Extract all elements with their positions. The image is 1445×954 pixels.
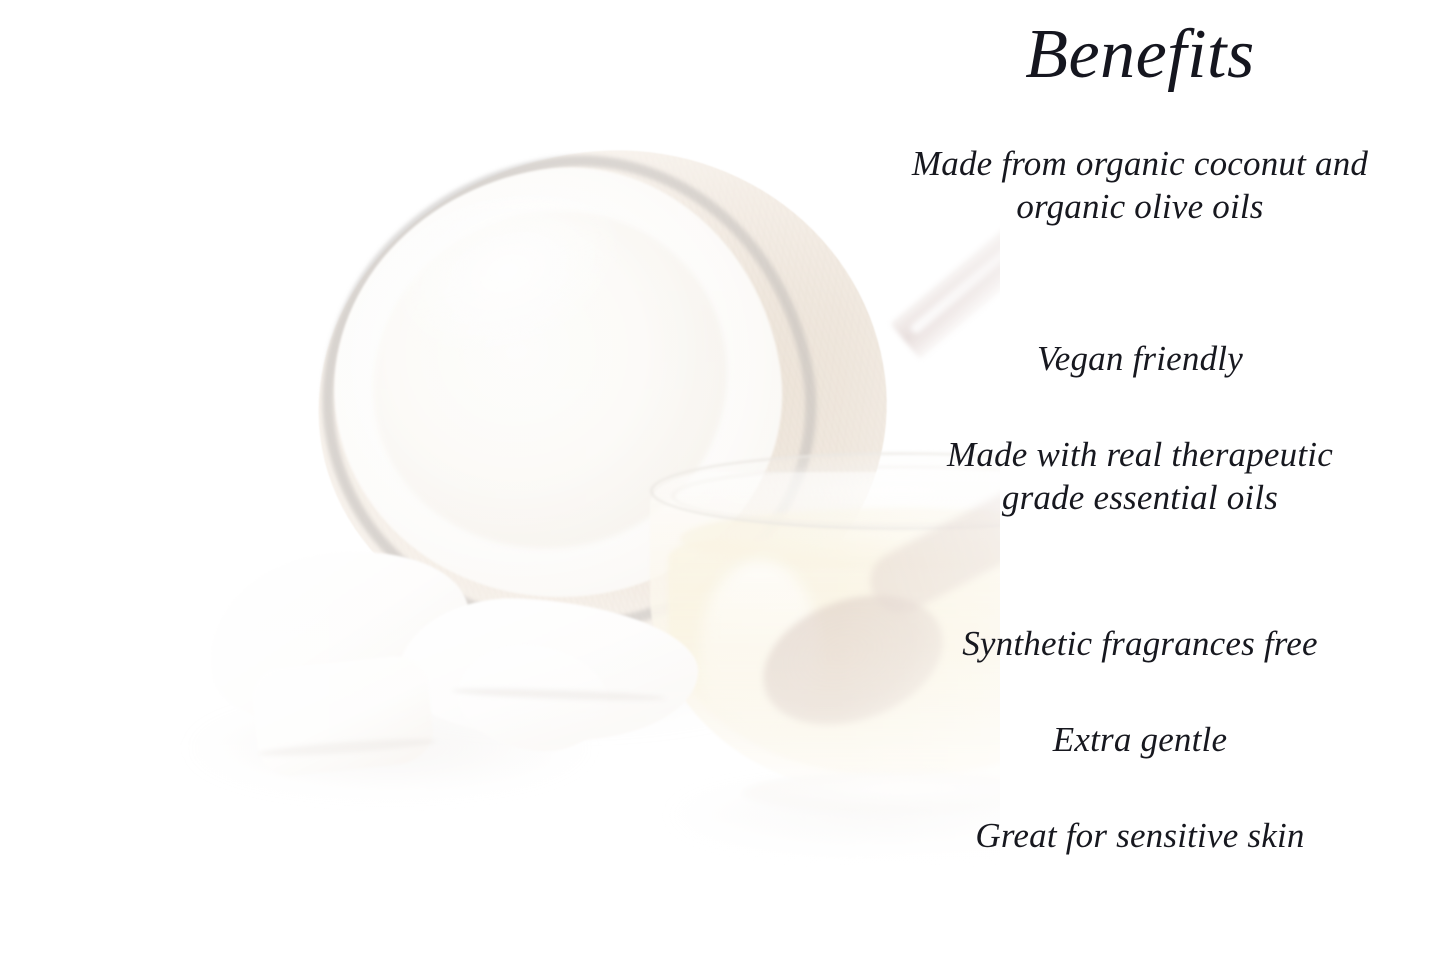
coconut-chunk-edge: [452, 686, 666, 702]
photo-fade-overlay: [0, 0, 1000, 954]
coconut-flesh: [303, 138, 810, 631]
benefit-item-1: Made from organic coconut and organic ol…: [905, 142, 1375, 229]
coconut-husk-fibre: [290, 119, 915, 684]
benefit-item-3: Made with real therapeutic grade essenti…: [905, 433, 1375, 520]
coconut-shadow: [300, 600, 820, 732]
coconut-chunk: [395, 592, 702, 748]
benefits-graphic: Benefits Made from organic coconut and o…: [0, 0, 1445, 954]
coconut-chunk: [250, 653, 436, 779]
benefit-item-4: Synthetic fragrances free: [905, 622, 1375, 665]
coconut-chunk: [451, 636, 614, 760]
coconut-shell-ring: [288, 122, 848, 667]
product-photo: [0, 0, 1000, 954]
chunks-shadow: [190, 700, 590, 796]
coconut-chunk-edge: [258, 736, 436, 759]
benefit-item-6: Great for sensitive skin: [905, 814, 1375, 857]
benefit-item-2: Vegan friendly: [905, 337, 1375, 380]
coconut-flesh-sheen: [372, 158, 643, 384]
benefits-text-column: Benefits Made from organic coconut and o…: [905, 0, 1405, 954]
page-title: Benefits: [905, 20, 1375, 90]
coconut-husk: [290, 119, 915, 684]
benefit-item-5: Extra gentle: [905, 718, 1375, 761]
glass-bowl-highlight: [700, 560, 820, 740]
coconut-flesh-hollow: [348, 186, 752, 574]
coconut-chunk: [198, 534, 484, 749]
